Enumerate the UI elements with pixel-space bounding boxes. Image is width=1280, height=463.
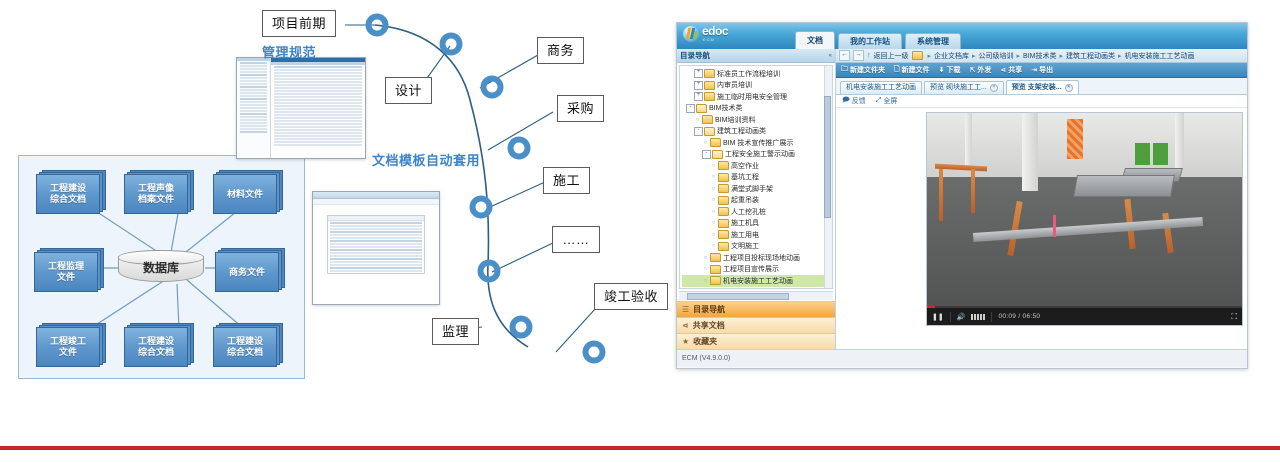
caption-management-spec: 管理规范 (262, 42, 316, 61)
video-scene-marker (1053, 215, 1056, 237)
video-player[interactable]: ❚❚ 🔊 00:09 / 06:50 ⛶ (926, 112, 1243, 326)
tree-leaf-marker: ○ (710, 186, 717, 192)
share-icon: ⋖ (1000, 66, 1006, 74)
tree-node[interactable]: ○起重吊装 (682, 195, 824, 207)
folder-icon (704, 69, 715, 78)
new-folder-button[interactable]: 🗀 新建文件夹 (841, 65, 885, 76)
root-folder-icon (912, 51, 923, 60)
tree-node[interactable]: +标准员工作流程培训 (682, 68, 824, 80)
forward-icon[interactable]: → (853, 50, 864, 61)
tree-node[interactable]: ○工程项目投标现场地动画 (682, 252, 824, 264)
preview-viewer: ❚❚ 🔊 00:09 / 06:50 ⛶ (836, 108, 1247, 349)
folder-icon (718, 196, 729, 205)
expand-icon[interactable]: + (694, 69, 703, 78)
database-label: 数据库 (118, 259, 204, 276)
tree-leaf-marker: ○ (702, 266, 709, 272)
folder-icon (718, 184, 729, 193)
app-logo: edoc ECM (683, 26, 728, 42)
nav-button-directory[interactable]: ☰ 目录导航 (677, 301, 835, 317)
crumb-building-animation[interactable]: 建筑工程动画类 (1066, 51, 1115, 61)
folder-icon (710, 138, 721, 147)
database-cylinder: 数据库 (118, 250, 204, 284)
tree-node-label: 工程项目宣传展示 (723, 264, 779, 274)
fullscreen-icon: ⤢ (876, 97, 882, 105)
video-scene-column (965, 113, 972, 165)
tree-leaf-marker: ○ (710, 163, 717, 169)
download-button[interactable]: ⬇ 下载 (939, 65, 961, 75)
tree-node-label: BIM 技术宣传推广展示 (723, 138, 793, 148)
bottom-rule (0, 446, 1280, 450)
tree-node-label: 机电安装施工工艺动画 (723, 276, 793, 286)
expand-icon[interactable]: + (694, 92, 703, 101)
tree-node-label: BIM技术类 (709, 103, 742, 113)
fullscreen-icon[interactable]: ⛶ (1231, 312, 1237, 322)
doc-tab-mep-animation[interactable]: 机电安装施工工艺动画 (840, 81, 922, 94)
nav-button-label: 收藏夹 (693, 336, 717, 347)
share-icon: ⋖ (682, 321, 689, 330)
folder-open-icon (696, 104, 707, 113)
button-label: 全屏 (883, 96, 897, 106)
control-divider (991, 312, 992, 322)
video-scene-column (1022, 113, 1038, 191)
folder-open-icon (712, 150, 723, 159)
status-bar: ECM (V4.9.0.0) (677, 349, 1247, 367)
tree-scroll-thumb[interactable] (824, 96, 831, 218)
tree-horizontal-scrollbar[interactable] (679, 291, 833, 300)
tree-node-label: 起重吊装 (731, 195, 759, 205)
node-8 (586, 344, 603, 361)
tree-hscroll-thumb[interactable] (687, 293, 789, 300)
tree-leaf-marker: ○ (702, 278, 709, 284)
tree-node[interactable]: ○工程项目宣传展示 (682, 264, 824, 276)
folder-icon (710, 265, 721, 274)
tree-node-label: 建筑施工技术交底动画 (723, 287, 793, 289)
ecm-application-window: edoc ECM 文档 我的工作站 系统管理 目录导航 « +标准员工作流程培训… (676, 22, 1248, 369)
tree-node[interactable]: ○BIM培训资料 (682, 114, 824, 126)
crumb-separator: ▸ (1118, 52, 1122, 60)
tree-node[interactable]: ○施工用电 (682, 229, 824, 241)
flow-label-stage-preliminary: 项目前期 (262, 10, 336, 37)
tree-node[interactable]: ○基坑工程 (682, 172, 824, 184)
crumb-separator: ▸ (928, 52, 932, 60)
nav-button-label: 共享文档 (693, 320, 725, 331)
tree-node[interactable]: -工程安全施工警示动画 (682, 149, 824, 161)
tree-node[interactable]: ○BIM 技术宣传推广展示 (682, 137, 824, 149)
node-1 (369, 17, 386, 34)
folder-icon (718, 161, 729, 170)
tree-leaf-marker: ○ (710, 209, 717, 215)
tree-leaf-marker: ○ (702, 140, 709, 146)
content-pane: ← → ↑ 返回上一级 ▸ 企业文档库 ▸ 公司级培训 ▸ BIM技术类 ▸ 建… (836, 49, 1247, 349)
tree-node-label: 施工临时用电安全管理 (717, 92, 787, 102)
tree-node-label: 人工挖孔桩 (731, 207, 766, 217)
process-document-diagram: 项目前期 设计 商务 采购 施工 …… 监理 竣工验收 管理规范 文档模板自动套… (0, 0, 660, 420)
folder-icon (710, 253, 721, 262)
video-scene-pallet (1073, 175, 1175, 197)
tree-leaf-marker: ○ (710, 243, 717, 249)
app-body: 目录导航 « +标准员工作流程培训+内审员培训+施工临时用电安全管理-BIM技术… (677, 49, 1247, 349)
video-scene-lift (1067, 119, 1083, 159)
tree-leaf-marker: ○ (710, 197, 717, 203)
flow-label-stage-construction: 施工 (543, 167, 590, 194)
crumb-bim-tech[interactable]: BIM技术类 (1023, 51, 1056, 61)
node-7 (513, 319, 530, 336)
tree-node[interactable]: ○满堂式脚手架 (682, 183, 824, 195)
folder-icon (718, 173, 729, 182)
volume-icon[interactable]: 🔊 (957, 313, 966, 321)
tree-node[interactable]: ○人工挖孔桩 (682, 206, 824, 218)
main-tabs: 文档 我的工作站 系统管理 (795, 31, 961, 49)
flow-label-stage-acceptance: 竣工验收 (594, 283, 668, 310)
tree-node-label: 工程项目投标现场地动画 (723, 253, 800, 263)
up-level-label[interactable]: 返回上一级 (874, 51, 909, 61)
expand-icon[interactable]: + (694, 81, 703, 90)
navigation-pane: 目录导航 « +标准员工作流程培训+内审员培训+施工临时用电安全管理-BIM技术… (677, 49, 836, 349)
tree-node-label: BIM培训资料 (715, 115, 755, 125)
crumb-separator: ▸ (1017, 52, 1021, 60)
crumb-enterprise-library[interactable]: 企业文档库 (934, 51, 969, 61)
button-label: 新建文件 (902, 65, 930, 75)
nav-title: 目录导航 (680, 50, 710, 61)
button-label: 共享 (1008, 65, 1022, 75)
tree-node-label: 施工用电 (731, 230, 759, 240)
crumb-separator: ▸ (972, 52, 976, 60)
folder-icon (718, 207, 729, 216)
tree-leaf-marker: ○ (694, 117, 701, 123)
up-level-icon[interactable]: ↑ (867, 52, 871, 59)
folder-icon (710, 288, 721, 289)
star-icon: ★ (682, 337, 689, 346)
node-2 (443, 36, 460, 53)
crumb-mep-animation[interactable]: 机电安装施工工艺动画 (1125, 51, 1195, 61)
tree-node[interactable]: ○建筑施工技术交底动画 (682, 287, 824, 290)
share-button[interactable]: ⋖ 共享 (1000, 65, 1022, 75)
tree-leaf-marker: ○ (710, 220, 717, 226)
folder-icon (704, 81, 715, 90)
tree-node-label: 满堂式脚手架 (731, 184, 773, 194)
video-scene-panel (1153, 143, 1168, 165)
folder-icon (710, 276, 721, 285)
new-file-icon: 🗋 (894, 65, 900, 76)
video-scene-table-leg (971, 169, 975, 213)
download-icon: ⬇ (939, 66, 945, 74)
tree-node-label: 建筑工程动画类 (717, 126, 766, 136)
send-out-icon: ⇱ (970, 66, 976, 74)
tab-my-workstation[interactable]: 我的工作站 (838, 33, 902, 49)
collapse-icon[interactable]: - (694, 127, 703, 136)
tab-documents[interactable]: 文档 (795, 31, 835, 49)
folder-icon (718, 242, 729, 251)
flow-label-stage-procurement: 采购 (557, 95, 604, 122)
folder-icon (702, 115, 713, 124)
tab-label: 机电安装施工工艺动画 (846, 82, 916, 94)
collapse-icon[interactable]: - (686, 104, 695, 113)
nav-header: 目录导航 « (677, 49, 835, 63)
back-icon[interactable]: ← (839, 50, 850, 61)
flow-label-stage-supervision: 监理 (432, 318, 479, 345)
button-label: 反馈 (852, 96, 866, 106)
caption-template-autoapply: 文档模板自动套用 (372, 150, 480, 169)
document-tabs: 机电安装施工工艺动画 预览 砌块施工工... × 预览 支架安装... × (836, 78, 1247, 95)
export-button[interactable]: ⇥ 导出 (1031, 65, 1053, 75)
button-label: 新建文件夹 (850, 65, 885, 75)
folder-tree[interactable]: +标准员工作流程培训+内审员培训+施工临时用电安全管理-BIM技术类○BIM培训… (679, 65, 833, 289)
action-toolbar: 🗀 新建文件夹 🗋 新建文件 ⬇ 下载 ⇱ 外发 ⋖ 共享 (836, 63, 1247, 78)
fullscreen-button[interactable]: ⤢ 全屏 (876, 96, 898, 106)
tree-node[interactable]: ○施工机具 (682, 218, 824, 230)
video-scene-panel (1135, 143, 1150, 165)
video-scene-column (1175, 113, 1184, 171)
tree-leaf-marker: ○ (702, 255, 709, 261)
video-controls: ❚❚ 🔊 00:09 / 06:50 ⛶ (927, 308, 1242, 325)
tree-node[interactable]: +施工临时用电安全管理 (682, 91, 824, 103)
tree-node-label: 文明施工 (731, 241, 759, 251)
export-icon: ⇥ (1031, 66, 1037, 74)
video-time: 00:09 / 06:50 (998, 313, 1040, 320)
version-label: ECM (V4.9.0.0) (682, 355, 730, 362)
tree-leaf-marker: ○ (710, 232, 717, 238)
crumb-company-training[interactable]: 公司级培训 (979, 51, 1014, 61)
preview-toolbar: 🗩 反馈 ⤢ 全屏 (836, 95, 1247, 108)
feedback-button[interactable]: 🗩 反馈 (842, 96, 866, 107)
pause-icon[interactable]: ❚❚ (932, 313, 944, 321)
tree-node[interactable]: +内审员培训 (682, 80, 824, 92)
new-file-button[interactable]: 🗋 新建文件 (894, 65, 930, 76)
crumb-separator: ▸ (1060, 52, 1064, 60)
tree-node[interactable]: -建筑工程动画类 (682, 126, 824, 138)
tab-label: 预览 砌块施工工... (930, 82, 987, 94)
feedback-icon: 🗩 (842, 96, 850, 107)
tree-vertical-scrollbar[interactable] (824, 66, 832, 288)
node-3 (484, 79, 501, 96)
folder-open-icon (704, 127, 715, 136)
logo-text: edoc (702, 26, 728, 37)
flow-label-stage-ellipsis: …… (552, 226, 600, 253)
volume-slider[interactable] (971, 314, 985, 320)
button-label: 外发 (977, 65, 991, 75)
tree-node[interactable]: ○高空作业 (682, 160, 824, 172)
collapse-icon[interactable]: « (829, 53, 832, 59)
control-divider (950, 312, 951, 322)
tree-node-label: 工程安全施工警示动画 (725, 149, 795, 159)
video-scene-table-leg (939, 169, 943, 221)
folder-icon (704, 92, 715, 101)
tree-node-label: 基坑工程 (731, 172, 759, 182)
tree-leaf-marker: ○ (710, 174, 717, 180)
nav-button-label: 目录导航 (693, 304, 725, 315)
close-icon[interactable]: × (1065, 84, 1073, 92)
edoc-logo-icon (683, 26, 699, 42)
tree-node-label: 施工机具 (731, 218, 759, 228)
list-icon: ☰ (682, 305, 689, 314)
node-6 (481, 263, 498, 280)
tree-node[interactable]: -BIM技术类 (682, 103, 824, 115)
new-folder-icon: 🗀 (841, 65, 848, 76)
tree-node-label: 高空作业 (731, 161, 759, 171)
nav-button-shared-docs[interactable]: ⋖ 共享文档 (677, 317, 835, 333)
button-label: 下载 (947, 65, 961, 75)
button-label: 导出 (1039, 65, 1053, 75)
tree-node[interactable]: ○文明施工 (682, 241, 824, 253)
node-5 (473, 199, 490, 216)
tree-node-label: 标准员工作流程培训 (717, 69, 780, 79)
doc-tab-preview-masonry[interactable]: 预览 砌块施工工... × (924, 81, 1004, 94)
tab-label: 预览 支架安装... (1012, 81, 1062, 94)
breadcrumb: ← → ↑ 返回上一级 ▸ 企业文档库 ▸ 公司级培训 ▸ BIM技术类 ▸ 建… (836, 49, 1247, 63)
tab-system-management[interactable]: 系统管理 (905, 33, 961, 49)
folder-icon (718, 230, 729, 239)
tree-node-label: 内审员培训 (717, 80, 752, 90)
send-out-button[interactable]: ⇱ 外发 (970, 65, 992, 75)
flow-label-stage-design: 设计 (385, 77, 432, 104)
folder-icon (718, 219, 729, 228)
node-4 (511, 140, 528, 157)
flow-label-stage-business: 商务 (537, 37, 584, 64)
close-icon[interactable]: × (990, 84, 998, 92)
doc-tab-preview-bracket[interactable]: 预览 支架安装... × (1006, 80, 1079, 94)
app-header: edoc ECM 文档 我的工作站 系统管理 (677, 23, 1247, 49)
tree-node[interactable]: ○机电安装施工工艺动画 (682, 275, 824, 287)
collapse-icon[interactable]: - (702, 150, 711, 159)
nav-button-favorites[interactable]: ★ 收藏夹 (677, 333, 835, 349)
